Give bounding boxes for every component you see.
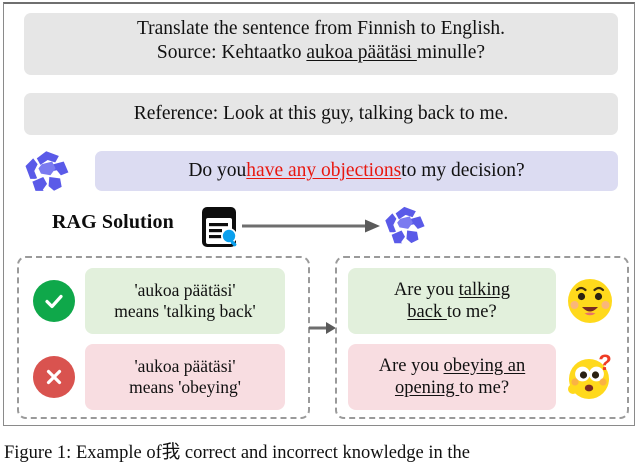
evidence-bubble-correct: 'aukoa päätäsi' means 'talking back' (85, 268, 285, 334)
answer-bubble-incorrect: Are you obeying an opening to me? (348, 344, 556, 410)
answer-incorrect-prefix: Are you (379, 356, 444, 376)
answer-correct-prefix: Are you (394, 280, 459, 300)
generated-answer-panel: Are you talking back to me? (335, 256, 629, 419)
evidence-correct-line-2: means 'talking back' (114, 301, 255, 322)
evidence-incorrect-line-2: means 'obeying' (129, 377, 241, 398)
rag-solution-label: RAG Solution (52, 211, 174, 234)
retrieved-knowledge-panel: 'aukoa päätäsi' means 'talking back' 'au… (17, 256, 310, 419)
evidence-bubble-incorrect: 'aukoa päätäsi' means 'obeying' (85, 344, 285, 410)
answer-incorrect-line-1: Are you obeying an (379, 355, 525, 377)
answer-incorrect-suffix: to me? (459, 378, 509, 398)
rag-to-llm-arrow-icon (242, 218, 382, 234)
llm-pinwheel-icon (17, 147, 77, 195)
answer-correct-highlight-2: back (407, 302, 447, 322)
task-instruction-line-1: Translate the sentence from Finnish to E… (24, 17, 618, 41)
evidence-incorrect-line-1: 'aukoa päätäsi' (134, 356, 235, 377)
answer-incorrect-highlight-1: obeying an (444, 356, 526, 376)
task-instruction-panel: Translate the sentence from Finnish to E… (24, 13, 618, 75)
source-prefix: Source: Kehtaatko (157, 42, 306, 63)
answer-incorrect-highlight-2: opening (395, 378, 459, 398)
output-prefix: Do you (188, 160, 246, 182)
answer-incorrect-line-2: opening to me? (395, 377, 509, 399)
source-highlight-phrase: aukoa päätäsi (306, 42, 416, 63)
source-suffix: minulle? (417, 42, 485, 63)
check-circle-icon (33, 280, 75, 322)
evidence-correct-line-1: 'aukoa päätäsi' (134, 280, 235, 301)
result-row-correct: Are you talking back to me? (348, 268, 616, 334)
x-circle-icon (33, 356, 75, 398)
llm-pinwheel-icon-output (379, 203, 431, 247)
document-search-icon (198, 205, 242, 249)
smiling-face-emoji (564, 275, 616, 327)
answer-correct-line-1: Are you talking (394, 279, 510, 301)
figure-frame: Translate the sentence from Finnish to E… (3, 2, 635, 426)
answer-correct-line-2: back to me? (407, 301, 496, 323)
output-suffix: to my decision? (401, 160, 524, 182)
figure-caption: Figure 1: Example of我 correct and incorr… (4, 438, 636, 464)
confused-face-emoji: ? (564, 351, 616, 403)
evidence-row-correct: 'aukoa päätäsi' means 'talking back' (33, 268, 285, 334)
svg-text:?: ? (598, 351, 611, 375)
result-row-incorrect: Are you obeying an opening to me? ? (348, 344, 616, 410)
reference-panel: Reference: Look at this guy, talking bac… (24, 93, 618, 135)
answer-correct-highlight-1: talking (459, 280, 510, 300)
task-source-line: Source: Kehtaatko aukoa päätäsi minulle? (24, 41, 618, 65)
output-highlight-phrase: have any objections (246, 160, 401, 182)
answer-bubble-correct: Are you talking back to me? (348, 268, 556, 334)
reference-text: Reference: Look at this guy, talking bac… (134, 102, 509, 126)
model-output-bubble: Do you have any objections to my decisio… (95, 151, 618, 191)
answer-correct-suffix: to me? (447, 302, 497, 322)
evidence-to-result-arrow-icon (309, 321, 337, 335)
evidence-row-incorrect: 'aukoa päätäsi' means 'obeying' (33, 344, 285, 410)
